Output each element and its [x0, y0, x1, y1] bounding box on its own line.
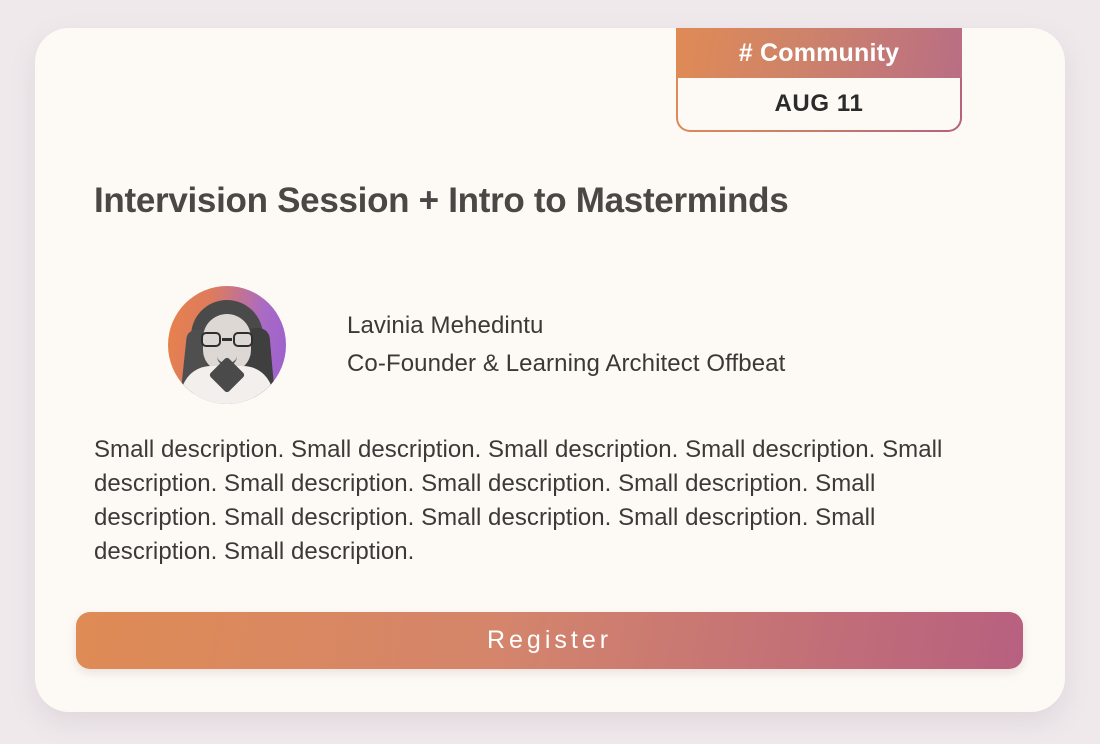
event-title: Intervision Session + Intro to Mastermin… [94, 178, 1014, 224]
badge-date-label: AUG 11 [775, 90, 864, 118]
event-description: Small description. Small description. Sm… [94, 433, 974, 569]
badge-channel-label: # Community [739, 39, 900, 68]
speaker-block: Lavinia Mehedintu Co-Founder & Learning … [168, 286, 785, 404]
badge-channel: # Community [676, 28, 962, 78]
portrait-glasses-bridge-icon [222, 338, 232, 341]
badge-date-container: AUG 11 [678, 78, 960, 130]
speaker-role: Co-Founder & Learning Architect Offbeat [347, 345, 785, 383]
register-button[interactable]: Register [76, 612, 1023, 669]
speaker-details: Lavinia Mehedintu Co-Founder & Learning … [347, 307, 785, 383]
event-card: # Community AUG 11 Intervision Session +… [35, 28, 1065, 712]
event-badge: # Community AUG 11 [676, 28, 962, 132]
speaker-avatar [168, 286, 286, 404]
speaker-name: Lavinia Mehedintu [347, 307, 785, 345]
